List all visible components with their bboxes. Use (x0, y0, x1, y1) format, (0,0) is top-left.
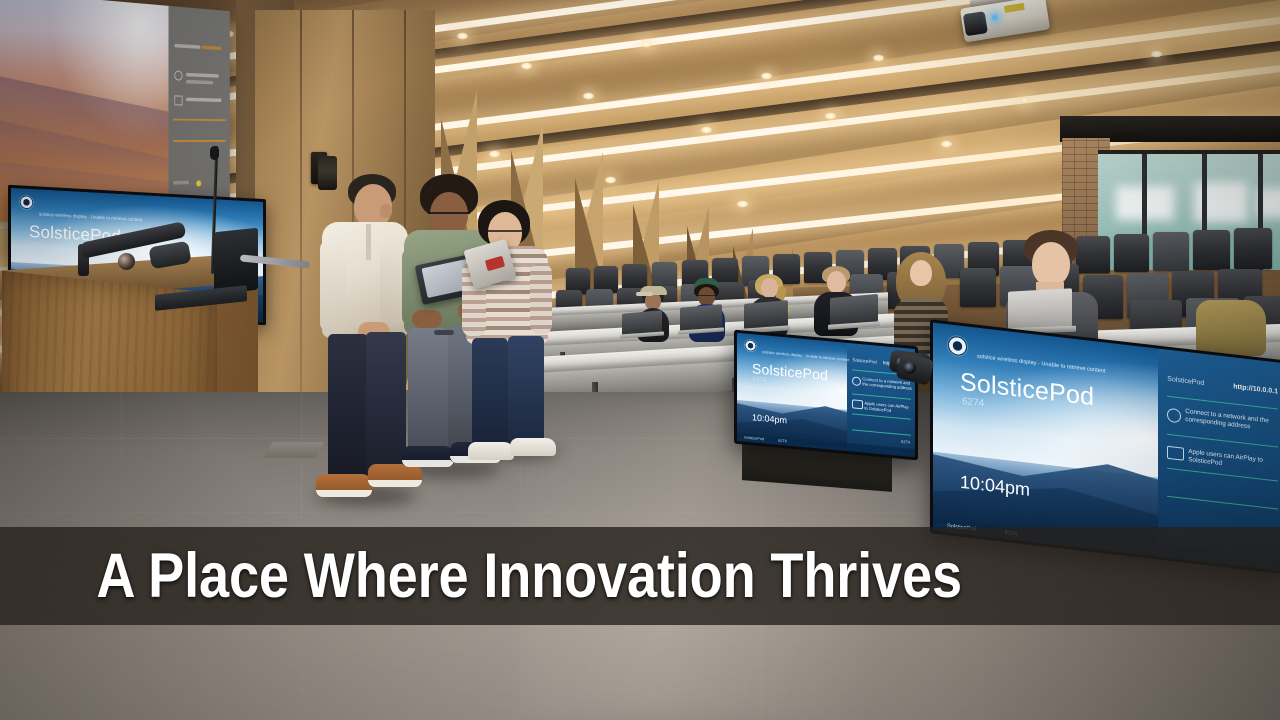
projection-info-panel (169, 6, 230, 214)
airplay-icon-center (852, 399, 863, 409)
solstice-display-center[interactable]: SolsticePod http://10.0.0.1 Connect to a… (734, 330, 918, 461)
document-camera-lens-icon (118, 253, 135, 270)
camera-lens-icon-right (904, 362, 916, 374)
network-icon-right (1167, 408, 1181, 424)
panel-url-right: http://10.0.0.1 (1233, 383, 1278, 395)
solstice-ui-center: SolsticePod http://10.0.0.1 Connect to a… (737, 333, 915, 457)
taskbar-id-center: 6274 (778, 439, 786, 444)
title-band: A Place Where Innovation Thrives (0, 527, 1280, 625)
solstice-corner-label-center: 6274 (901, 439, 910, 445)
person-student-laptop (468, 202, 564, 470)
network-icon-center (852, 376, 861, 386)
microphone-head-icon (210, 146, 219, 160)
slide-canvas: solstice wireless display - Unable to re… (0, 0, 1280, 720)
panel-heading-center: SolsticePod (852, 357, 876, 364)
panel-heading-right: SolsticePod (1167, 376, 1204, 387)
slide-title: A Place Where Innovation Thrives (0, 545, 962, 608)
solstice-podid-left: 6274 (30, 242, 46, 250)
taskbar-name-center: SolsticePod (744, 436, 764, 442)
solstice-logo-icon-center (745, 340, 756, 352)
airplay-icon-right (1167, 446, 1184, 461)
solstice-logo-icon (20, 195, 33, 209)
coat-on-seat (1196, 300, 1266, 356)
solstice-podid-center: 6274 (753, 376, 766, 383)
panel-instruction-2-center: Apple users can AirPlay to SolsticePod (864, 400, 912, 415)
projector-lens-icon (963, 11, 988, 36)
panel-instruction-1-right: Connect to a network and the correspondi… (1185, 408, 1280, 435)
floor-access-plate (264, 442, 325, 458)
